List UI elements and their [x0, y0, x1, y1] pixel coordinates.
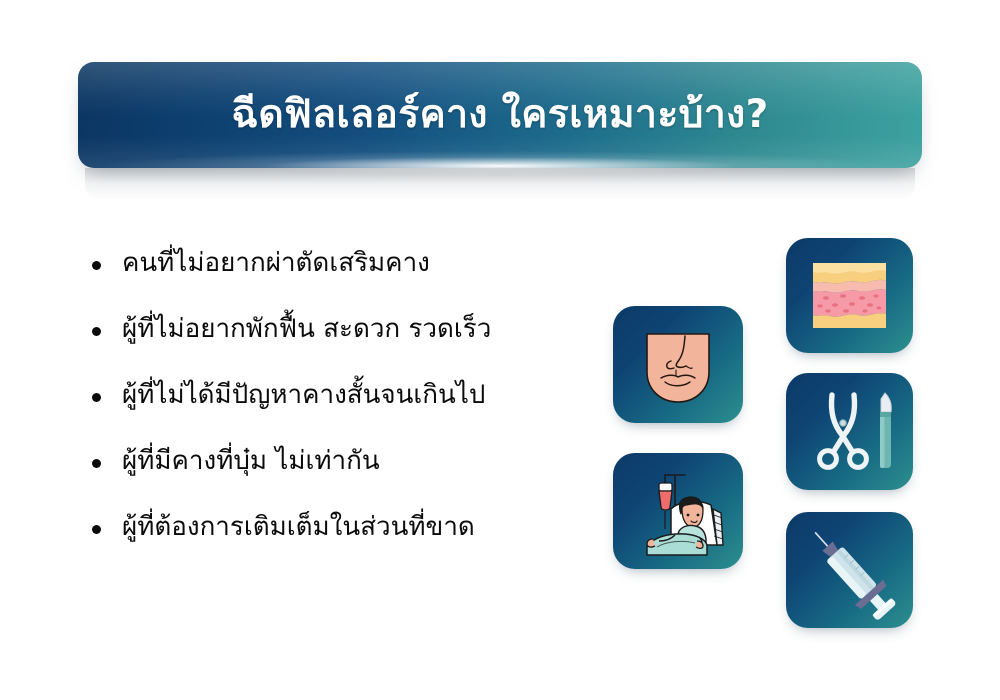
- bullet-dot-icon: [92, 327, 101, 336]
- list-item-label: ผู้ที่ไม่อยากพักฟื้น สะดวก รวดเร็ว: [122, 312, 491, 347]
- syringe-tile: [786, 512, 913, 628]
- forceps-and-scalpel-icon: [786, 373, 913, 490]
- bullet-dot-icon: [92, 525, 101, 534]
- list-item: ผู้ที่มีคางที่บุ๋ม ไม่เท่ากัน: [92, 444, 592, 479]
- surgical-tools-tile: [786, 373, 913, 490]
- bullet-dot-icon: [92, 393, 101, 402]
- list-item-label: ผู้ที่มีคางที่บุ๋ม ไม่เท่ากัน: [122, 444, 380, 479]
- header-banner: ฉีดฟิลเลอร์คาง ใครเหมาะบ้าง?: [78, 62, 922, 168]
- list-item: ผู้ที่ต้องการเติมเต็มในส่วนที่ขาด: [92, 510, 592, 545]
- patient-in-bed-icon: [613, 453, 743, 569]
- header-bar: ฉีดฟิลเลอร์คาง ใครเหมาะบ้าง?: [78, 62, 922, 168]
- skin-cross-section-icon: [786, 238, 913, 353]
- face-chin-icon: [613, 306, 743, 423]
- bullet-dot-icon: [92, 261, 101, 270]
- list-item: ผู้ที่ไม่ได้มีปัญหาคางสั้นจนเกินไป: [92, 378, 592, 413]
- face-profile-tile: [613, 306, 743, 423]
- list-item-label: ผู้ที่ไม่ได้มีปัญหาคางสั้นจนเกินไป: [122, 378, 485, 413]
- hospital-bed-tile: [613, 453, 743, 569]
- syringe-icon: [786, 512, 913, 628]
- benefits-list: คนที่ไม่อยากผ่าตัดเสริมคาง ผู้ที่ไม่อยาก…: [92, 246, 592, 576]
- list-item: คนที่ไม่อยากผ่าตัดเสริมคาง: [92, 246, 592, 281]
- skin-layers-tile: [786, 238, 913, 353]
- list-item: ผู้ที่ไม่อยากพักฟื้น สะดวก รวดเร็ว: [92, 312, 592, 347]
- list-item-label: ผู้ที่ต้องการเติมเต็มในส่วนที่ขาด: [122, 510, 475, 545]
- bullet-dot-icon: [92, 459, 101, 468]
- list-item-label: คนที่ไม่อยากผ่าตัดเสริมคาง: [122, 246, 430, 281]
- header-drop-shadow: [85, 168, 915, 202]
- page-title: ฉีดฟิลเลอร์คาง ใครเหมาะบ้าง?: [78, 62, 922, 168]
